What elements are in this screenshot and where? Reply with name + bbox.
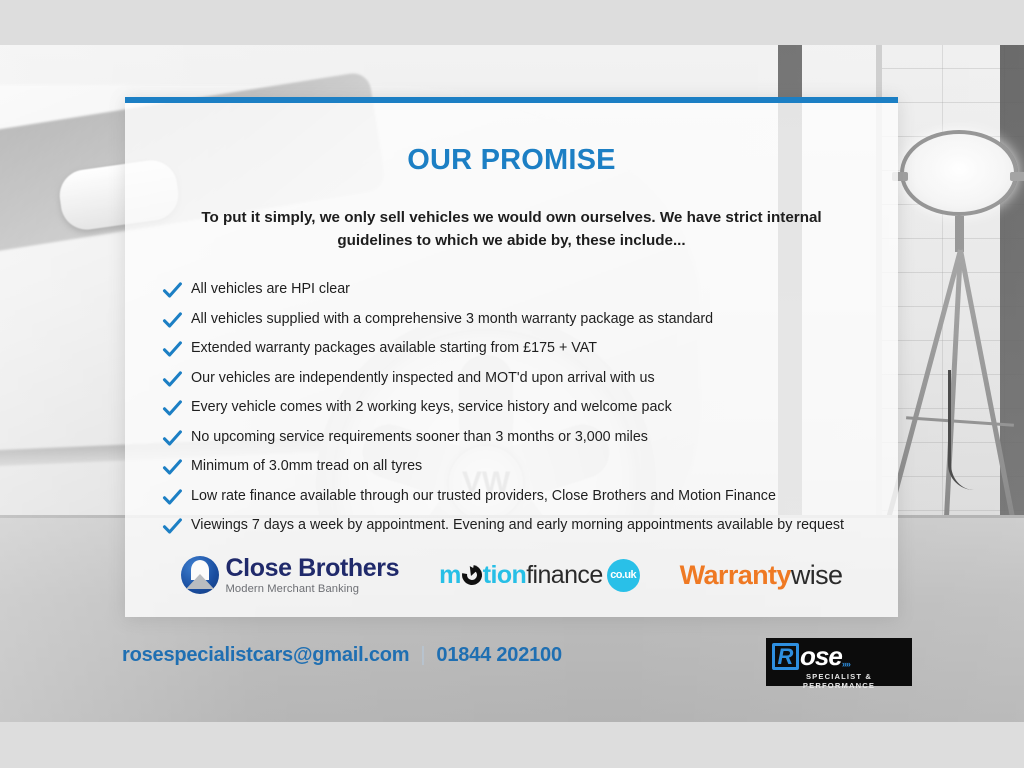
check-icon xyxy=(162,428,183,449)
check-icon xyxy=(162,339,183,360)
rose-logo-rest: ose xyxy=(800,643,842,670)
promise-text: Viewings 7 days a week by appointment. E… xyxy=(191,514,844,535)
promise-text: All vehicles supplied with a comprehensi… xyxy=(191,308,713,329)
warrantywise-logo[interactable]: Warrantywise xyxy=(680,560,843,591)
promise-text: Extended warranty packages available sta… xyxy=(191,337,597,358)
list-item: Low rate finance available through our t… xyxy=(162,485,898,510)
rose-logo-chevrons-icon: »» xyxy=(842,659,850,669)
list-item: Extended warranty packages available sta… xyxy=(162,337,898,362)
contact-details: rosespecialistcars@gmail.com | 01844 202… xyxy=(122,644,562,667)
check-icon xyxy=(162,398,183,419)
promise-text: Every vehicle comes with 2 working keys,… xyxy=(191,396,672,417)
check-icon xyxy=(162,280,183,301)
card-intro-text: To put it simply, we only sell vehicles … xyxy=(163,206,860,252)
list-item: Viewings 7 days a week by appointment. E… xyxy=(162,514,898,539)
motion-finance-finance: finance xyxy=(526,561,602,590)
promise-text: All vehicles are HPI clear xyxy=(191,278,350,299)
check-icon xyxy=(162,369,183,390)
warrantywise-wise: wise xyxy=(791,560,843,590)
partner-logo-row: Close Brothers Modern Merchant Banking m… xyxy=(125,556,898,595)
check-icon xyxy=(162,310,183,331)
list-item: Every vehicle comes with 2 working keys,… xyxy=(162,396,898,421)
promise-text: Low rate finance available through our t… xyxy=(191,485,776,506)
check-icon xyxy=(162,516,183,537)
warrantywise-warranty: Warranty xyxy=(680,560,791,590)
close-brothers-mark-icon xyxy=(181,556,219,594)
promise-card: OUR PROMISE To put it simply, we only se… xyxy=(125,97,898,617)
list-item: Our vehicles are independently inspected… xyxy=(162,367,898,392)
promise-text: Our vehicles are independently inspected… xyxy=(191,367,655,388)
close-brothers-logo[interactable]: Close Brothers Modern Merchant Banking xyxy=(181,556,400,595)
list-item: All vehicles supplied with a comprehensi… xyxy=(162,308,898,333)
letterbox-bottom xyxy=(0,722,1024,768)
phone-number[interactable]: 01844 202100 xyxy=(436,644,562,667)
rose-brand-logo[interactable]: R ose »» SPECIALIST & PERFORMANCE xyxy=(766,638,912,686)
motion-finance-logo[interactable]: m tion finance co.uk xyxy=(439,559,639,592)
motion-finance-tld-badge: co.uk xyxy=(607,559,640,592)
rose-logo-tagline: SPECIALIST & PERFORMANCE xyxy=(772,672,906,690)
page-title: OUR PROMISE xyxy=(125,144,898,177)
motion-finance-circular-arrow-icon xyxy=(458,561,486,589)
promise-list: All vehicles are HPI clear All vehicles … xyxy=(162,278,898,539)
list-item: No upcoming service requirements sooner … xyxy=(162,426,898,451)
footer: rosespecialistcars@gmail.com | 01844 202… xyxy=(0,630,1024,700)
contact-divider: | xyxy=(420,644,425,667)
list-item: All vehicles are HPI clear xyxy=(162,278,898,303)
email-link[interactable]: rosespecialistcars@gmail.com xyxy=(122,644,409,667)
letterbox-top xyxy=(0,0,1024,45)
promise-text: Minimum of 3.0mm tread on all tyres xyxy=(191,455,422,476)
close-brothers-name: Close Brothers xyxy=(226,554,400,582)
check-icon xyxy=(162,457,183,478)
motion-finance-m: m xyxy=(439,561,461,590)
list-item: Minimum of 3.0mm tread on all tyres xyxy=(162,455,898,480)
slide-canvas: VW OUR PROMISE To put it simply, we only… xyxy=(0,0,1024,768)
promise-text: No upcoming service requirements sooner … xyxy=(191,426,648,447)
motion-finance-tion: tion xyxy=(483,561,526,590)
close-brothers-tagline: Modern Merchant Banking xyxy=(226,584,400,595)
rose-logo-initial: R xyxy=(772,643,799,670)
check-icon xyxy=(162,487,183,508)
